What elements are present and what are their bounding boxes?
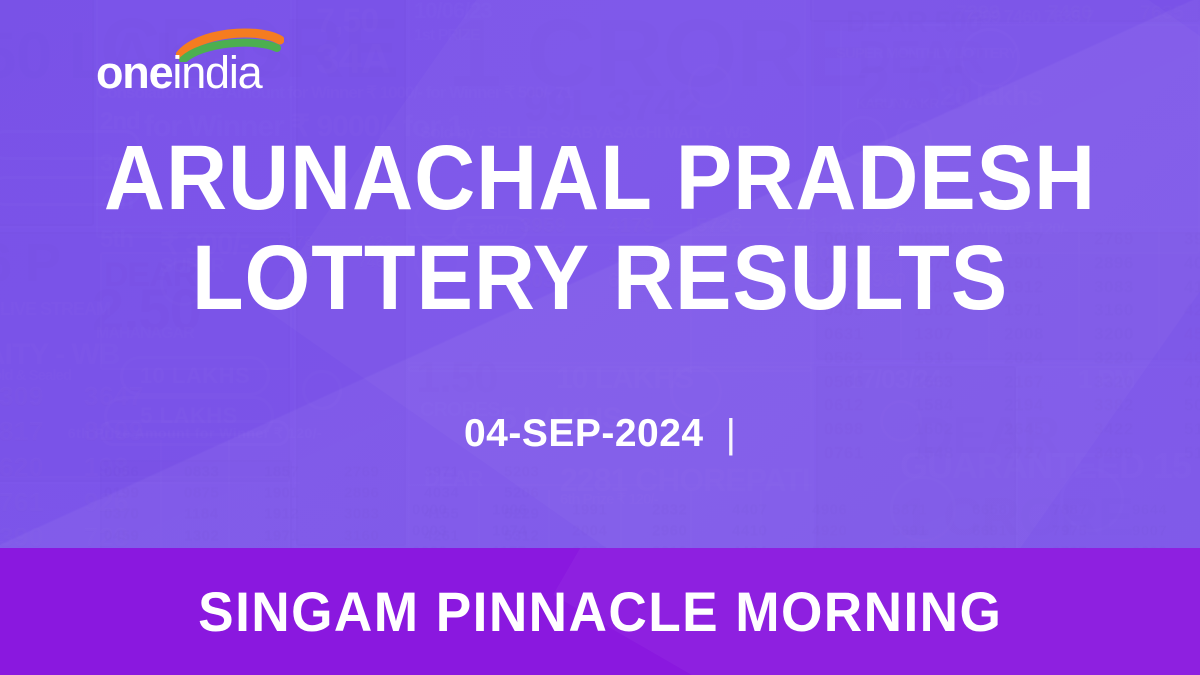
page-title: Arunachal Pradesh Lottery Results xyxy=(0,128,1200,328)
logo-word-india: india xyxy=(172,47,261,98)
oneindia-logo[interactable]: oneindia xyxy=(96,28,296,98)
hero-section: CRORE 50 LAKHS 7,50 34A 10/06/23 1 CRORE… xyxy=(0,0,1200,548)
lottery-name: Singam Pinnacle Morning xyxy=(198,582,1002,642)
date-separator: | xyxy=(726,412,736,456)
page-title-line-2: Lottery Results xyxy=(48,228,1152,328)
page-title-line-1: Arunachal Pradesh xyxy=(48,128,1152,228)
result-date-row: 04-SEP-2024 | xyxy=(0,412,1200,456)
logo-word-one: one xyxy=(96,47,172,98)
result-date: 04-SEP-2024 xyxy=(464,412,704,456)
lottery-results-banner-screenshot: CRORE 50 LAKHS 7,50 34A 10/06/23 1 CRORE… xyxy=(0,0,1200,675)
lottery-name-banner: Singam Pinnacle Morning xyxy=(0,548,1200,675)
logo-wordmark: oneindia xyxy=(96,50,261,95)
